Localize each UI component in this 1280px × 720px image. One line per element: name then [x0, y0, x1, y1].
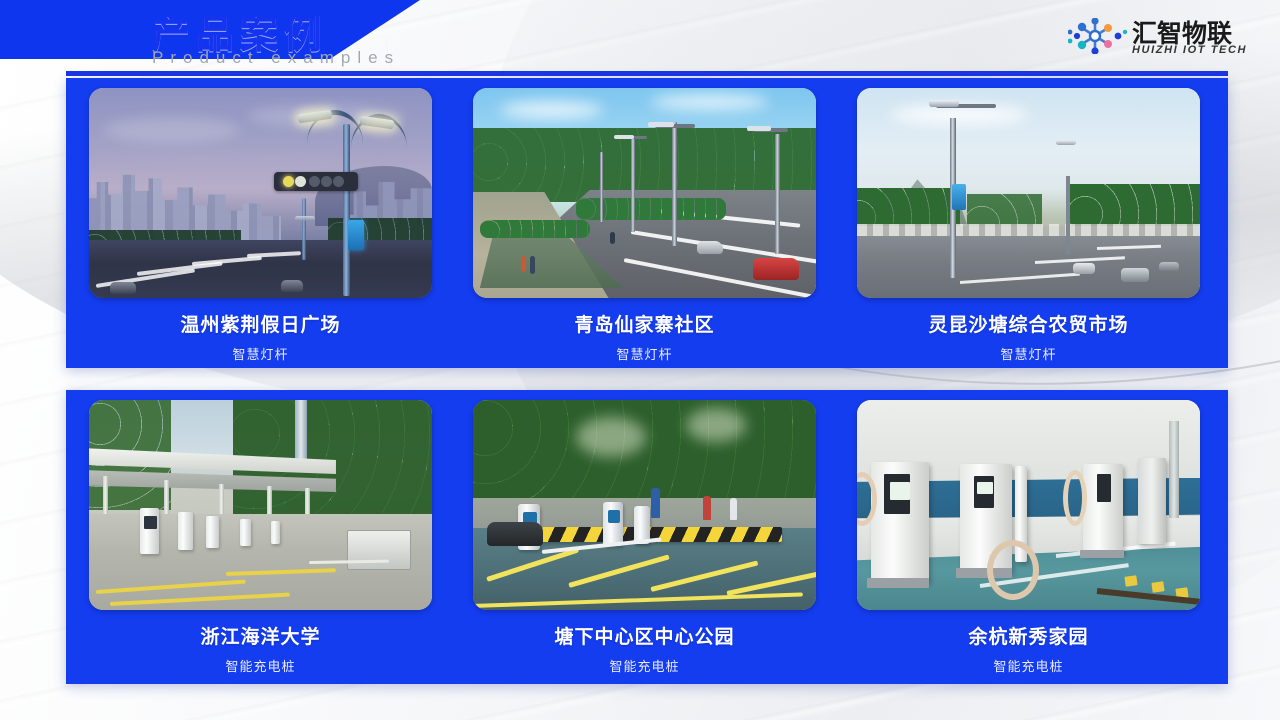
case-subtitle: 智慧灯杆: [473, 344, 816, 363]
case-subtitle: 智慧灯杆: [89, 344, 432, 363]
canopy-charging-station-image: [89, 400, 432, 610]
case-card[interactable]: 灵昆沙塘综合农贸市场 智慧灯杆: [857, 88, 1200, 363]
case-title: 余杭新秀家园: [857, 622, 1200, 649]
case-subtitle: 智能充电桩: [473, 656, 816, 675]
case-photo: [857, 400, 1200, 610]
case-photo: [89, 88, 432, 298]
sunny-avenue-with-smart-pole-image: [857, 88, 1200, 298]
case-card[interactable]: 浙江海洋大学 智能充电桩: [89, 400, 432, 675]
case-title: 温州紫荆假日广场: [89, 310, 432, 337]
molecule-network-icon: [1068, 18, 1128, 54]
case-photo: [473, 400, 816, 610]
dusk-city-street-with-smart-pole-image: [89, 88, 432, 298]
case-title: 塘下中心区中心公园: [473, 622, 816, 649]
smart-lamp-pole-row: 温州紫荆假日广场 智慧灯杆: [66, 78, 1228, 368]
case-photo: [473, 88, 816, 298]
green-boulevard-with-smart-poles-image: [473, 88, 816, 298]
slide-root: 产品案例 Product examples: [0, 0, 1280, 720]
case-photo: [89, 400, 432, 610]
case-title: 青岛仙家寨社区: [473, 310, 816, 337]
case-photo: [857, 88, 1200, 298]
header-divider-bar: [66, 71, 1228, 76]
case-card[interactable]: 青岛仙家寨社区 智慧灯杆: [473, 88, 816, 363]
logo-name-en: HUIZHI IOT TECH: [1132, 44, 1247, 56]
case-card[interactable]: 塘下中心区中心公园 智能充电桩: [473, 400, 816, 675]
page-subtitle: Product examples: [152, 48, 400, 68]
ev-charging-row: 浙江海洋大学 智能充电桩: [66, 390, 1228, 684]
brand-logo: 汇智物联 HUIZHI IOT TECH: [1068, 14, 1258, 60]
slide-header: 产品案例 Product examples: [0, 0, 1280, 75]
case-title: 浙江海洋大学: [89, 622, 432, 649]
case-subtitle: 智慧灯杆: [857, 344, 1200, 363]
case-subtitle: 智能充电桩: [857, 656, 1200, 675]
case-card[interactable]: 温州紫荆假日广场 智慧灯杆: [89, 88, 432, 363]
case-subtitle: 智能充电桩: [89, 656, 432, 675]
park-charging-lot-image: [473, 400, 816, 610]
case-title: 灵昆沙塘综合农贸市场: [857, 310, 1200, 337]
case-card[interactable]: 余杭新秀家园 智能充电桩: [857, 400, 1200, 675]
indoor-charging-room-image: [857, 400, 1200, 610]
